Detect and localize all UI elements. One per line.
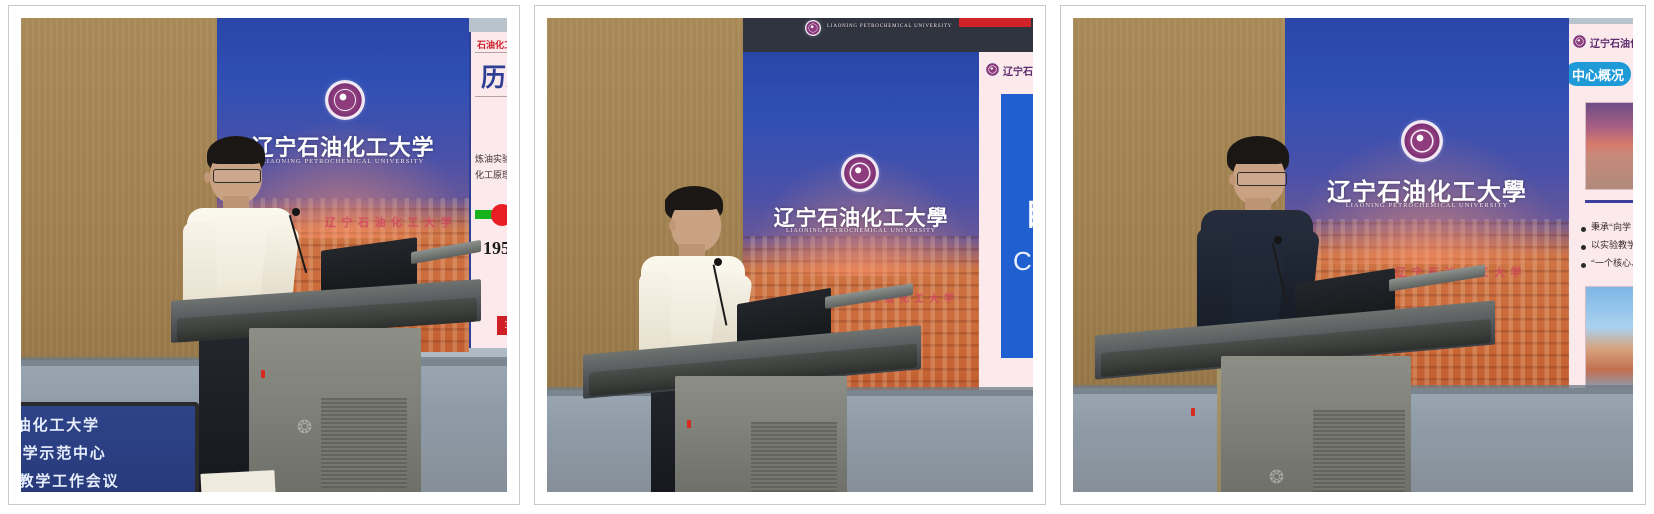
speaker-3-glasses (1237, 172, 1287, 186)
slide-year: 1950 (483, 238, 507, 259)
slide-2-contents-en: CONTENTS (1013, 246, 1033, 277)
lectern-3-emblem-icon: ❂ (1269, 468, 1284, 486)
photo-3-image: 辽宁石油化工大學 LIAONING PETROCHEMICAL UNIVERSI… (1073, 18, 1633, 492)
slide-3-bullet-dot-3 (1581, 263, 1586, 268)
confidence-monitor-1: 石油化工大学 验教学示范中心 现场教学工作会议 (21, 402, 199, 492)
slide-3-bullet-dot-1 (1581, 227, 1586, 232)
screen-wall-slogan: 辽宁石油化工大学 (325, 214, 457, 230)
slide-2-contents-panel: 目录 CONTENTS (1001, 94, 1033, 358)
slide-rule-top (475, 52, 507, 53)
slide-3-river-photo (1585, 286, 1633, 392)
slide-title: 历史 (481, 58, 507, 94)
photo-panel-2[interactable]: LIAONING PETROCHEMICAL UNIVERSITY 辽宁石油化工… (534, 5, 1046, 505)
slide-3-bullet-3: “一个核心、 (1591, 256, 1633, 269)
slide-body-line-2: 化工原理实 (475, 168, 507, 181)
confidence-line-1: 石油化工大学 (21, 414, 100, 435)
lectern-2-power-led (687, 420, 691, 428)
slide-3-campus-photo (1585, 102, 1633, 190)
photo-panel-1[interactable]: 辽宁石油化工大学 LIAONING PETROCHEMICAL UNIVERSI… (8, 5, 520, 505)
banner-en-name: LIAONING PETROCHEMICAL UNIVERSITY (827, 24, 952, 29)
lectern-1-power-led (261, 370, 265, 378)
slide-3-section-tag[interactable]: 中心概况 (1569, 62, 1631, 86)
slide-page-number[interactable]: 3 (497, 316, 507, 335)
slide-3-bullet-dot-2 (1581, 245, 1586, 250)
confidence-monitor-1-screen: 石油化工大学 验教学示范中心 现场教学工作会议 (21, 406, 195, 492)
banner-emblem-icon (805, 20, 821, 36)
slide-3-divider (1585, 200, 1633, 203)
slide-page-number-text: 3 (505, 320, 508, 331)
lectern-1-emblem-icon: ❂ (297, 418, 312, 436)
speaker-3-ear (1229, 174, 1236, 185)
photo-panel-3[interactable]: 辽宁石油化工大學 LIAONING PETROCHEMICAL UNIVERSI… (1060, 5, 1646, 505)
slide-2-contents-cn: 目录 (1025, 190, 1033, 234)
speaker-1-glasses (213, 169, 261, 183)
lectern-3-vent (1313, 410, 1405, 492)
slide-2-logo-cn: 辽宁石油化工大学 (1003, 63, 1033, 78)
photo-1-image: 辽宁石油化工大学 LIAONING PETROCHEMICAL UNIVERSI… (21, 18, 507, 492)
slide-3-bullet-2: 以实验教学为 (1591, 238, 1633, 251)
photo-strip: 辽宁石油化工大学 LIAONING PETROCHEMICAL UNIVERSI… (0, 0, 1654, 514)
lectern-1-vent (321, 398, 407, 488)
lectern-1-mic-head (292, 208, 300, 216)
speaker-2-hair-front (665, 192, 719, 210)
slide-contents-2: 辽宁石油化工大学 目录 CONTENTS (979, 52, 1033, 392)
slide-3-bullet-1: 秉承“向学 (1591, 220, 1631, 233)
banner-red-accent (959, 18, 1031, 27)
confidence-line-2: 验教学示范中心 (21, 442, 107, 463)
slide-2-emblem-icon (985, 62, 1000, 77)
lectern-2-vent (751, 422, 837, 492)
photo-2-image: LIAONING PETROCHEMICAL UNIVERSITY 辽宁石油化工… (547, 18, 1033, 492)
slide-3-emblem-icon (1572, 34, 1587, 49)
slide-3-logo-cn: 辽宁石油化 (1590, 35, 1633, 50)
screen-2-top-banner: LIAONING PETROCHEMICAL UNIVERSITY (743, 18, 1033, 52)
university-emblem-icon-2 (841, 154, 879, 192)
university-emblem-icon (325, 80, 365, 120)
lectern-3-mic-head (1274, 236, 1282, 244)
speaker-1-hair-front (209, 144, 263, 164)
speaker-1-ear (204, 172, 211, 183)
lectern-2-mic-head (714, 258, 722, 266)
university-emblem-icon-3 (1401, 120, 1443, 162)
slide-3-section-tag-text: 中心概况 (1572, 65, 1624, 84)
speaker-3-left-arm (1197, 228, 1231, 336)
slide-center-overview-3: 辽宁石油化 中心概况 秉承“向学 以实验教学为 “一个核心、 (1569, 24, 1633, 392)
speaker-2-ear (669, 220, 676, 231)
speaker-3-hair-front (1229, 144, 1287, 164)
confidence-line-3: 现场教学工作会议 (21, 470, 119, 491)
lectern-3-power-led (1191, 408, 1195, 416)
paper-on-desk-1 (200, 470, 275, 492)
timeline-marker-dot (491, 204, 507, 226)
slide-header-red: 石油化工 (477, 38, 507, 51)
slide-rule-mid (475, 96, 507, 97)
slide-body-line-1: 炼油实验室 (475, 152, 507, 165)
